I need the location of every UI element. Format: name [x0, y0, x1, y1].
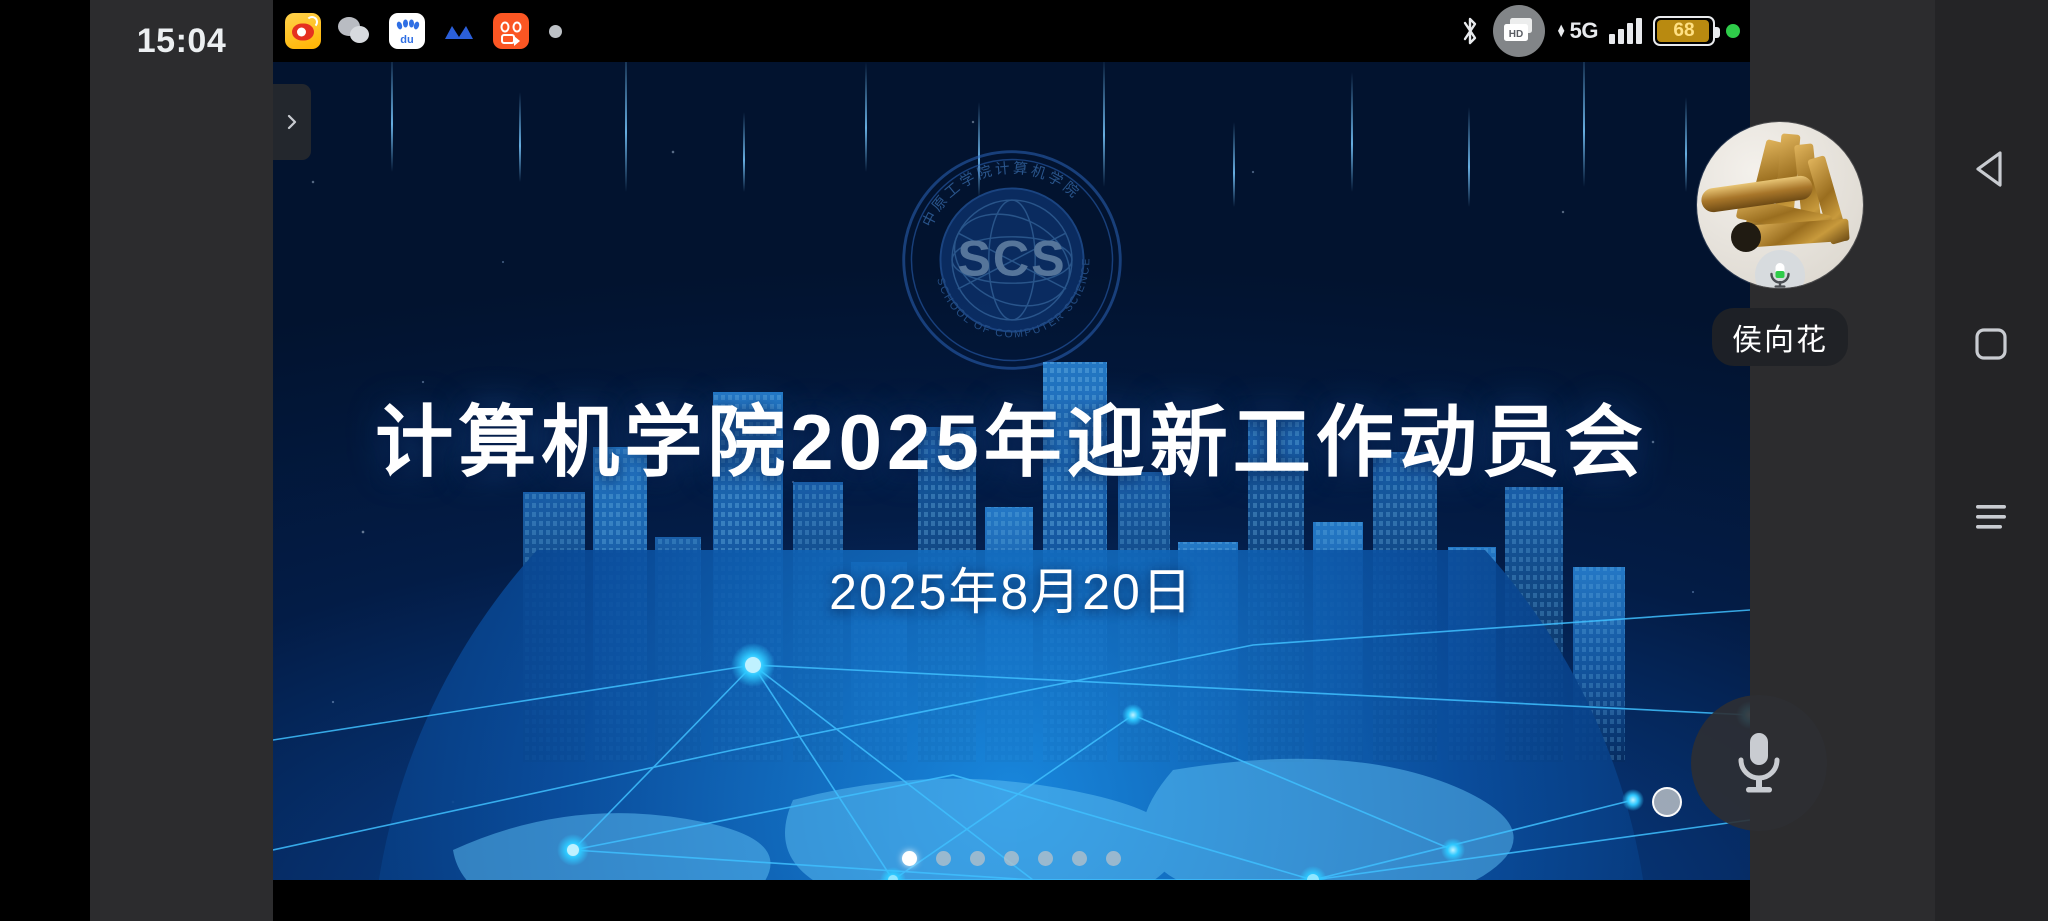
overflow-dot-icon	[549, 25, 562, 38]
status-system-icons: HD ▲▼ 5G 68	[1458, 0, 1740, 62]
shared-screen-stage[interactable]: SCS 中原工学院计算机学院 SCHOOL OF COMPUTER SCIENC…	[273, 62, 1750, 880]
participant-name-badge: 侯向花	[1712, 308, 1848, 366]
momo-icon	[441, 13, 477, 49]
presentation-slide: SCS 中原工学院计算机学院 SCHOOL OF COMPUTER SCIENC…	[273, 62, 1750, 880]
status-bar: du HD	[273, 0, 1750, 62]
battery-percent-label: 68	[1673, 20, 1694, 42]
status-clock: 15:04	[90, 22, 273, 61]
recording-indicator-dot	[1726, 24, 1740, 38]
signal-strength-icon	[1609, 18, 1642, 44]
data-arrows-icon: ▲▼	[1556, 25, 1567, 37]
avatar[interactable]	[1697, 122, 1863, 288]
network-type-label: 5G	[1570, 18, 1598, 44]
wechat-icon	[337, 13, 373, 49]
participant-mic-indicator	[1755, 250, 1805, 288]
page-dot[interactable]	[902, 851, 917, 866]
hd-sim-icon: HD	[1493, 5, 1545, 57]
navigation-rail	[1935, 0, 2048, 921]
bluetooth-icon	[1458, 14, 1482, 48]
slide-title: 计算机学院2025年迎新工作动员会	[273, 380, 1750, 492]
microphone-button[interactable]	[1691, 695, 1827, 831]
home-nav-button[interactable]	[1962, 315, 2020, 373]
recents-nav-button[interactable]	[1962, 488, 2020, 546]
network-type-indicator: ▲▼ 5G	[1556, 18, 1598, 44]
page-dot[interactable]	[1004, 851, 1019, 866]
baidu-icon: du	[389, 13, 425, 49]
slide-subtitle: 2025年8月20日	[273, 552, 1750, 624]
phone-screen: 15:04 du	[0, 0, 2048, 921]
page-indicator-dots[interactable]	[273, 851, 1750, 866]
page-dot[interactable]	[936, 851, 951, 866]
page-dot[interactable]	[1106, 851, 1121, 866]
participant-tile[interactable]: 侯向花	[1697, 122, 1863, 288]
left-system-rail	[90, 0, 273, 921]
status-notification-icons: du	[285, 13, 562, 49]
kuaishou-icon	[493, 13, 529, 49]
left-letterbox	[0, 0, 90, 921]
page-dot[interactable]	[1072, 851, 1087, 866]
pointer-dot-indicator	[1652, 787, 1682, 817]
svg-text:SCS: SCS	[957, 230, 1066, 286]
battery-indicator: 68	[1653, 16, 1715, 46]
back-nav-button[interactable]	[1962, 140, 2020, 198]
baidu-icon-label: du	[389, 35, 425, 46]
weibo-icon	[285, 13, 321, 49]
page-dot[interactable]	[1038, 851, 1053, 866]
page-dot[interactable]	[970, 851, 985, 866]
expand-panel-chevron-icon[interactable]	[273, 84, 311, 160]
svg-text:HD: HD	[1509, 29, 1523, 40]
